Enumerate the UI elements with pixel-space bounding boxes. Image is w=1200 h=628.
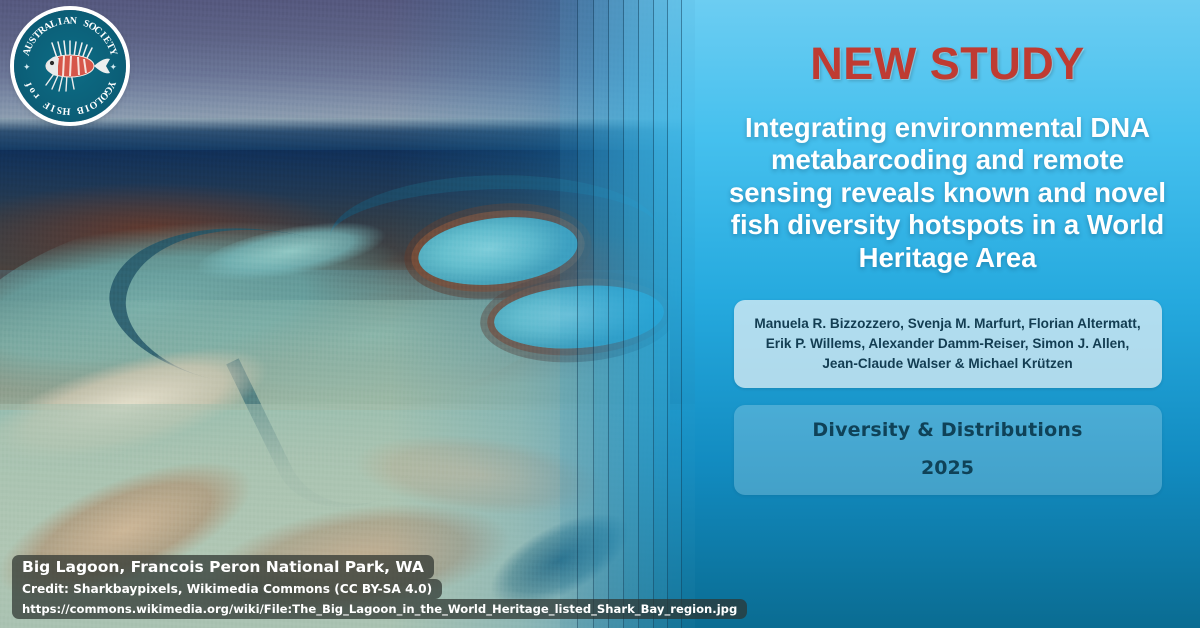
study-content-panel: NEW STUDY Integrating environmental DNA … [695,0,1200,628]
journal-info-box: Diversity & Distributions 2025 [734,405,1162,495]
fade-strip-9 [682,0,695,628]
caption-source-url[interactable]: https://commons.wikimedia.org/wiki/File:… [12,599,747,619]
poster-canvas: AUSTRALIAN SOCIETY for FISH BIOLOGY [0,0,1200,628]
logo-arc-char [72,105,75,116]
fade-strip-6 [639,0,654,628]
logo-arc-char: H [62,105,71,117]
publication-year: 2025 [750,457,1146,479]
fade-strip-5 [624,0,639,628]
fade-strip-7 [654,0,668,628]
fade-strip-8 [668,0,682,628]
photo-credit-caption: Big Lagoon, Francois Peron National Park… [12,555,747,619]
fade-strip-2 [578,0,594,628]
lionfish-icon [28,39,112,93]
author-list-box: Manuela R. Bizzozzero, Svenja M. Marfurt… [734,300,1162,388]
striped-fade-transition [560,0,695,628]
new-study-eyebrow: NEW STUDY [810,38,1085,90]
logo-star-left: ✦ [23,62,31,73]
fade-strip-3 [594,0,609,628]
australian-society-for-fish-biology-logo: AUSTRALIAN SOCIETY for FISH BIOLOGY [14,10,126,122]
fade-strip-4 [609,0,624,628]
study-title: Integrating environmental DNA metabarcod… [721,112,1174,274]
fade-strip-1 [560,0,578,628]
caption-credit: Credit: Sharkbaypixels, Wikimedia Common… [12,579,442,599]
journal-name: Diversity & Distributions [750,419,1146,441]
logo-star-right: ✦ [109,62,117,73]
caption-location: Big Lagoon, Francois Peron National Park… [12,555,434,579]
